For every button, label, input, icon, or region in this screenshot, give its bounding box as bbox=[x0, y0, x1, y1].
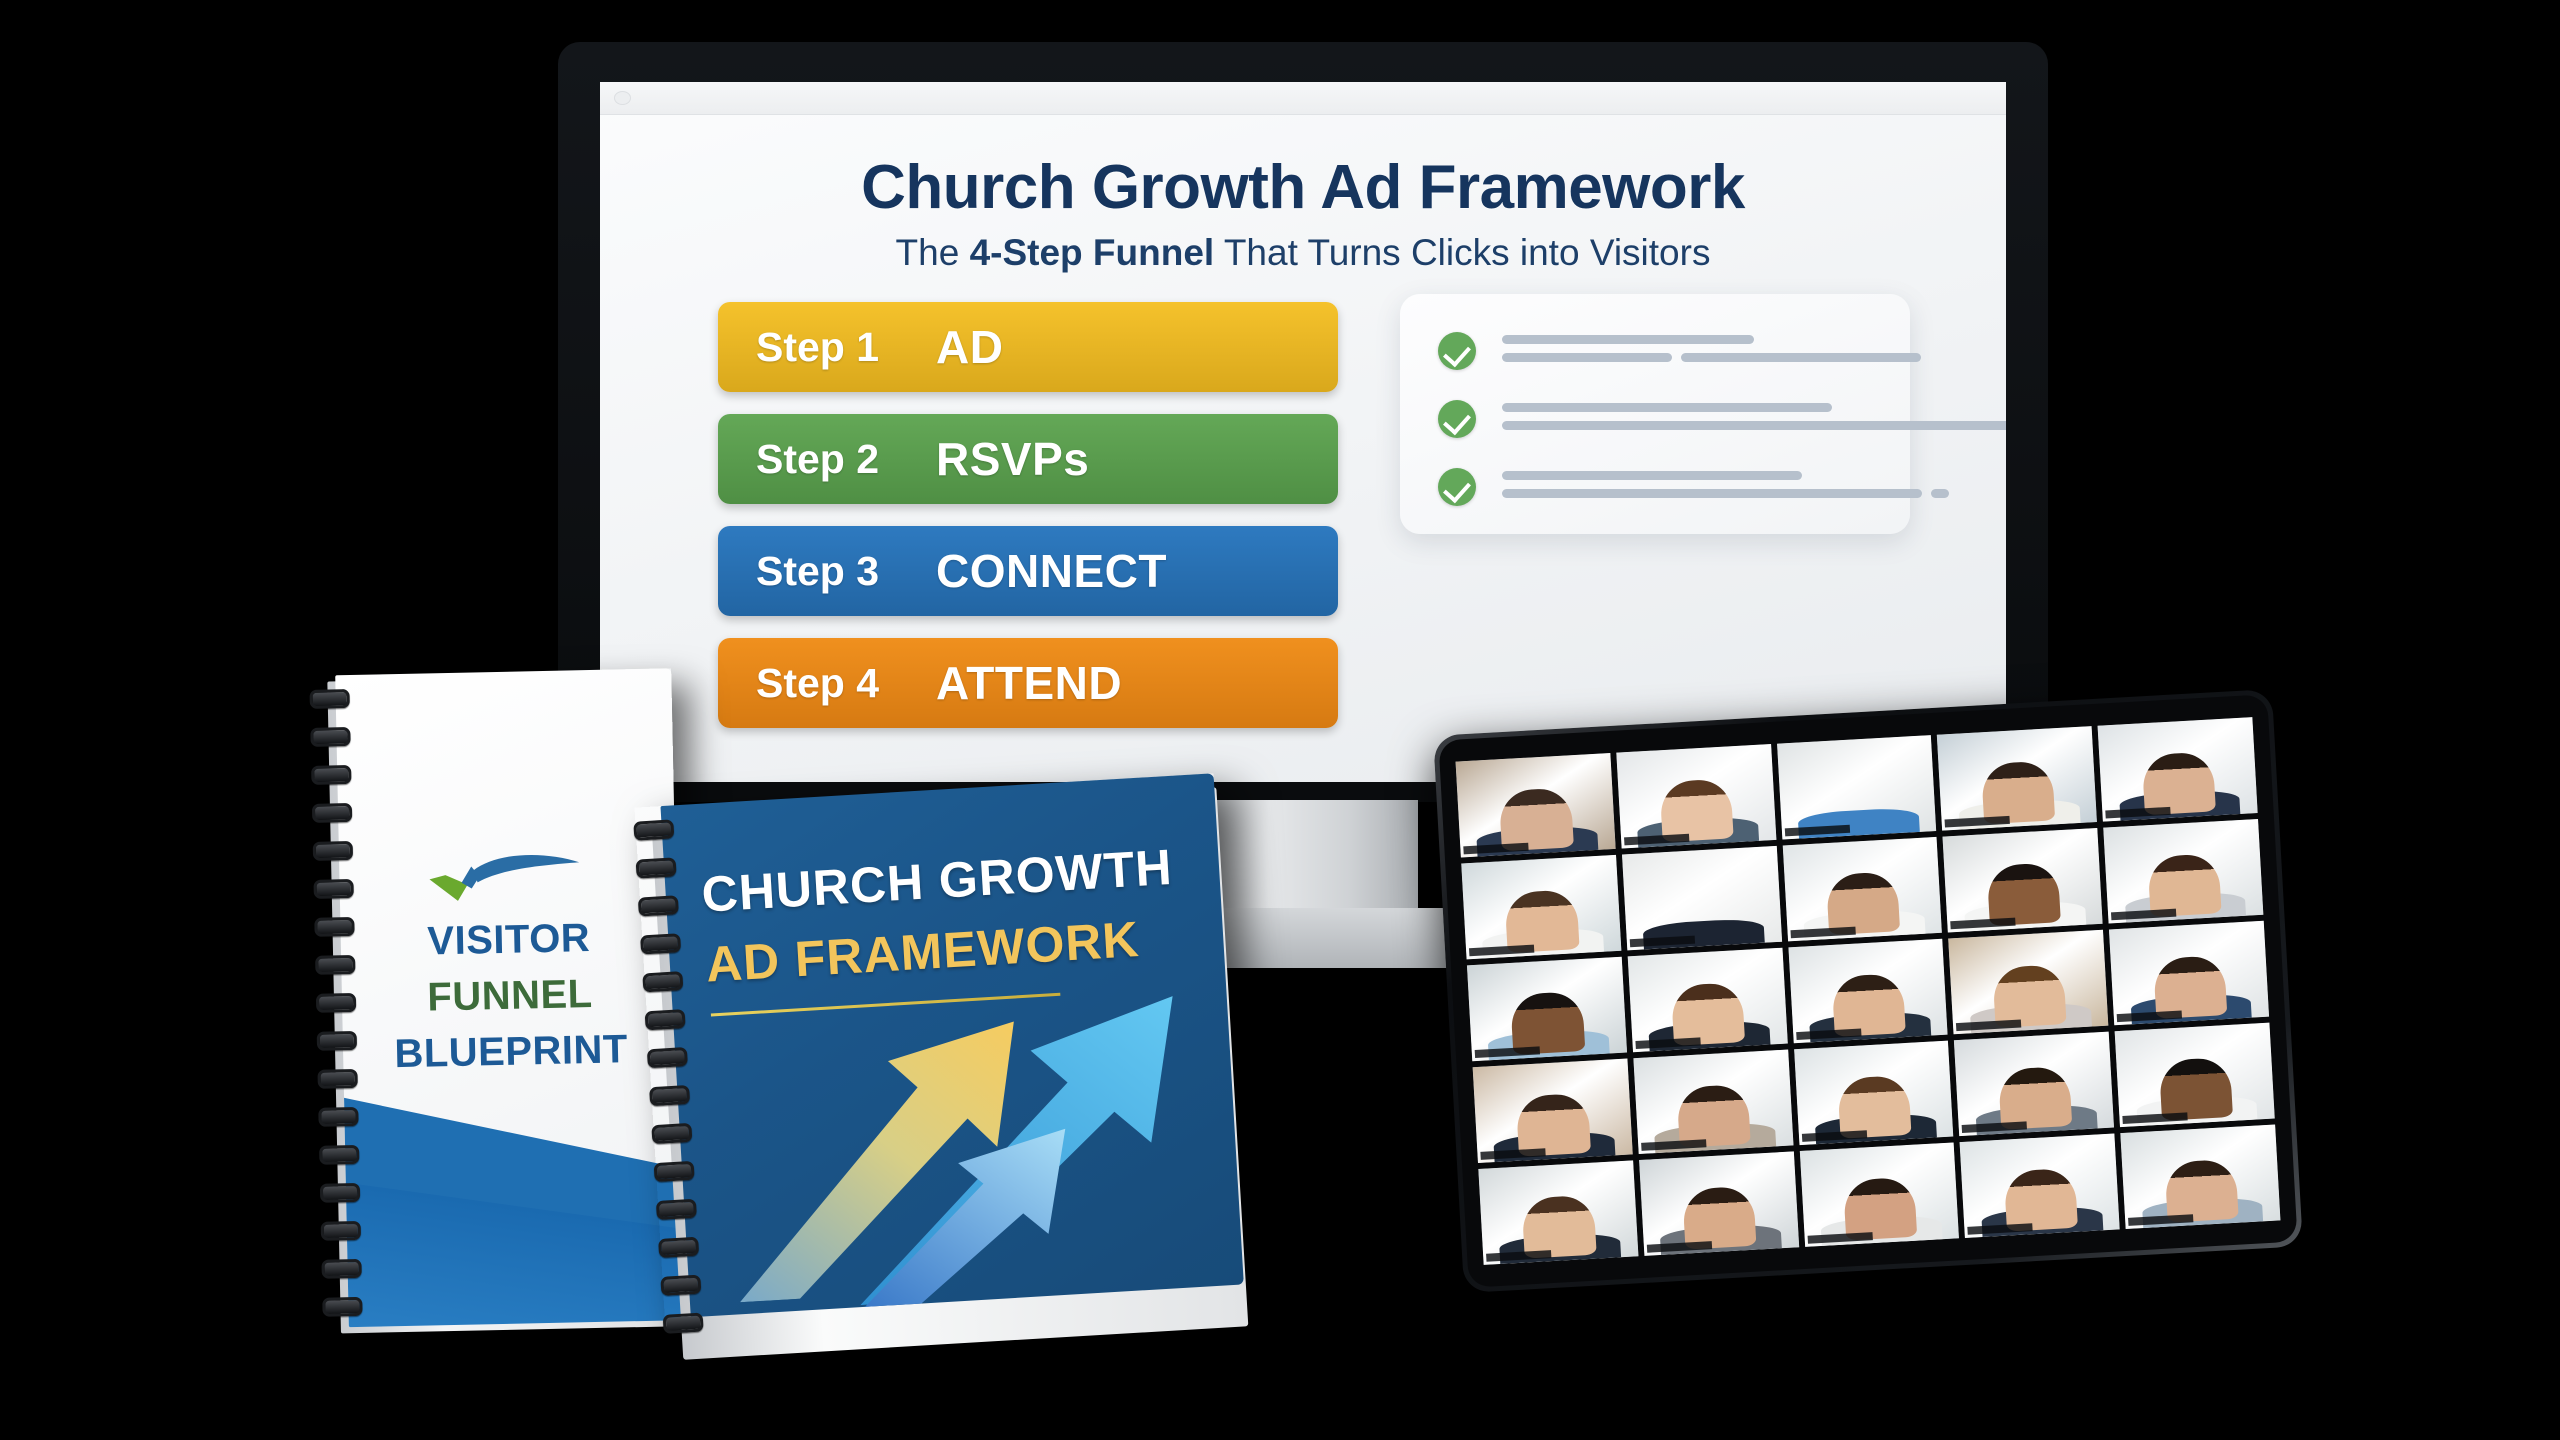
spiral-ring bbox=[312, 803, 352, 823]
placeholder-line bbox=[1502, 471, 1802, 480]
placeholder-line bbox=[1502, 489, 1922, 498]
placeholder-line bbox=[1681, 353, 1921, 362]
tablet-device bbox=[1433, 689, 2303, 1293]
step-label: ATTEND bbox=[936, 656, 1122, 710]
spiral-ring bbox=[313, 841, 353, 861]
browser-topbar bbox=[600, 82, 2006, 115]
funnel-step-list: Step 1ADStep 2RSVPsStep 3CONNECTStep 4AT… bbox=[718, 302, 1338, 750]
spiral-ring bbox=[311, 765, 351, 785]
check-icon bbox=[1438, 332, 1476, 370]
spiral-ring bbox=[638, 895, 679, 916]
notebook-cover: CHURCH GROWTH AD FRAMEWORK bbox=[660, 773, 1243, 1317]
spiral-ring bbox=[647, 1047, 688, 1068]
subtitle-pre: The bbox=[896, 232, 970, 273]
mockup-scene: Church Growth Ad Framework The 4-Step Fu… bbox=[0, 0, 2560, 1440]
spiral-ring bbox=[656, 1199, 697, 1220]
funnel-step-2[interactable]: Step 2RSVPs bbox=[718, 414, 1338, 504]
page-title: Church Growth Ad Framework bbox=[600, 152, 2006, 223]
checkmark-swoosh-logo bbox=[427, 852, 588, 907]
tablet-screen bbox=[1438, 694, 2297, 1287]
video-participant-tile[interactable] bbox=[1960, 1133, 2120, 1237]
video-participant-tile[interactable] bbox=[1937, 726, 2097, 830]
spiral-ring bbox=[314, 917, 354, 937]
video-participant-tile[interactable] bbox=[1616, 744, 1776, 848]
book-title-line3: BLUEPRINT bbox=[343, 1026, 680, 1078]
slide-content: Church Growth Ad Framework The 4-Step Fu… bbox=[600, 114, 2006, 782]
video-participant-tile[interactable] bbox=[1788, 939, 1948, 1043]
step-label: RSVPs bbox=[936, 432, 1089, 486]
video-participant-tile[interactable] bbox=[2098, 717, 2258, 821]
spiral-ring bbox=[315, 955, 355, 975]
window-dot-icon bbox=[614, 91, 631, 105]
video-participant-tile[interactable] bbox=[1456, 753, 1616, 857]
spiral-ring bbox=[649, 1085, 690, 1106]
placeholder-line bbox=[1502, 335, 1754, 344]
video-call-grid bbox=[1456, 717, 2281, 1265]
video-participant-tile[interactable] bbox=[1639, 1151, 1799, 1255]
step-number: Step 2 bbox=[756, 436, 936, 483]
video-participant-tile[interactable] bbox=[1622, 846, 1782, 950]
step-label: CONNECT bbox=[936, 544, 1167, 598]
placeholder-line-row bbox=[1502, 403, 2006, 421]
video-participant-tile[interactable] bbox=[1954, 1032, 2114, 1136]
spiral-ring bbox=[633, 819, 674, 840]
subtitle-post: That Turns Clicks into Visitors bbox=[1214, 232, 1710, 273]
video-participant-tile[interactable] bbox=[1799, 1142, 1959, 1246]
spiral-ring bbox=[640, 933, 681, 954]
spiral-ring bbox=[319, 1145, 359, 1165]
check-icon bbox=[1438, 400, 1476, 438]
spiral-ring bbox=[636, 857, 677, 878]
spiral-ring bbox=[321, 1221, 361, 1241]
checklist-item[interactable] bbox=[1438, 332, 1921, 371]
spiral-binding bbox=[309, 675, 357, 1328]
check-icon bbox=[1438, 468, 1476, 506]
checklist-item[interactable] bbox=[1438, 400, 2006, 439]
video-participant-tile[interactable] bbox=[1473, 1059, 1633, 1163]
spiral-ring bbox=[317, 1069, 357, 1089]
video-participant-tile[interactable] bbox=[1467, 957, 1627, 1061]
video-participant-tile[interactable] bbox=[1794, 1041, 1954, 1145]
placeholder-line-row bbox=[1502, 471, 1949, 489]
placeholder-line bbox=[1502, 353, 1672, 362]
monitor-screen: Church Growth Ad Framework The 4-Step Fu… bbox=[600, 82, 2006, 782]
spiral-ring bbox=[658, 1237, 699, 1258]
step-number: Step 1 bbox=[756, 324, 936, 371]
spiral-ring bbox=[654, 1161, 695, 1182]
video-participant-tile[interactable] bbox=[2103, 819, 2263, 923]
book-title-line1: VISITOR bbox=[340, 914, 677, 966]
spiral-ring bbox=[318, 1107, 358, 1127]
video-participant-tile[interactable] bbox=[2109, 921, 2269, 1025]
checklist-placeholder-lines bbox=[1502, 468, 1949, 507]
placeholder-line-row bbox=[1502, 421, 2006, 439]
spiral-ring bbox=[660, 1275, 701, 1296]
step-number: Step 3 bbox=[756, 548, 936, 595]
growth-arrow-light-blue bbox=[828, 1081, 1111, 1318]
placeholder-line-row bbox=[1502, 335, 1921, 353]
funnel-step-4[interactable]: Step 4ATTEND bbox=[718, 638, 1338, 728]
checklist-card bbox=[1400, 294, 1910, 534]
placeholder-line bbox=[1502, 403, 1832, 412]
placeholder-line bbox=[1931, 489, 1949, 498]
spiral-ring bbox=[316, 993, 356, 1013]
notebook-cover: VISITOR FUNNEL BLUEPRINT bbox=[335, 668, 685, 1327]
visitor-funnel-blueprint-notebook: VISITOR FUNNEL BLUEPRINT bbox=[311, 668, 685, 1327]
spiral-ring bbox=[313, 879, 353, 899]
video-participant-tile[interactable] bbox=[1782, 837, 1942, 941]
spiral-ring bbox=[317, 1031, 357, 1051]
page-subtitle: The 4-Step Funnel That Turns Clicks into… bbox=[600, 232, 2006, 274]
video-participant-tile[interactable] bbox=[1461, 855, 1621, 959]
spiral-ring bbox=[310, 727, 350, 747]
checklist-placeholder-lines bbox=[1502, 332, 1921, 371]
video-participant-tile[interactable] bbox=[1633, 1050, 1793, 1154]
spiral-ring bbox=[322, 1297, 362, 1317]
funnel-step-1[interactable]: Step 1AD bbox=[718, 302, 1338, 392]
church-growth-ad-framework-notebook: CHURCH GROWTH AD FRAMEWORK bbox=[634, 773, 1245, 1346]
spiral-ring bbox=[651, 1123, 692, 1144]
video-participant-tile[interactable] bbox=[1949, 930, 2109, 1034]
step-number: Step 4 bbox=[756, 660, 936, 707]
video-participant-tile[interactable] bbox=[1943, 828, 2103, 932]
spiral-ring bbox=[321, 1259, 361, 1279]
desktop-monitor: Church Growth Ad Framework The 4-Step Fu… bbox=[558, 42, 2048, 802]
video-participant-tile[interactable] bbox=[1627, 948, 1787, 1052]
placeholder-line-row bbox=[1502, 489, 1949, 507]
funnel-step-3[interactable]: Step 3CONNECT bbox=[718, 526, 1338, 616]
book-title-line2: FUNNEL bbox=[342, 970, 679, 1022]
video-participant-tile[interactable] bbox=[1478, 1160, 1638, 1264]
spiral-ring bbox=[645, 1009, 686, 1030]
video-participant-tile[interactable] bbox=[1777, 735, 1937, 839]
spiral-ring bbox=[310, 689, 350, 709]
step-label: AD bbox=[936, 320, 1003, 374]
placeholder-line-row bbox=[1502, 353, 1921, 371]
checklist-item[interactable] bbox=[1438, 468, 1949, 507]
video-participant-tile[interactable] bbox=[2115, 1023, 2275, 1127]
subtitle-bold: 4-Step Funnel bbox=[970, 232, 1215, 273]
placeholder-line bbox=[1502, 421, 2006, 430]
video-participant-tile[interactable] bbox=[2121, 1124, 2281, 1228]
spiral-ring bbox=[642, 971, 683, 992]
checklist-placeholder-lines bbox=[1502, 400, 2006, 439]
spiral-ring bbox=[663, 1313, 704, 1334]
spiral-ring bbox=[320, 1183, 360, 1203]
